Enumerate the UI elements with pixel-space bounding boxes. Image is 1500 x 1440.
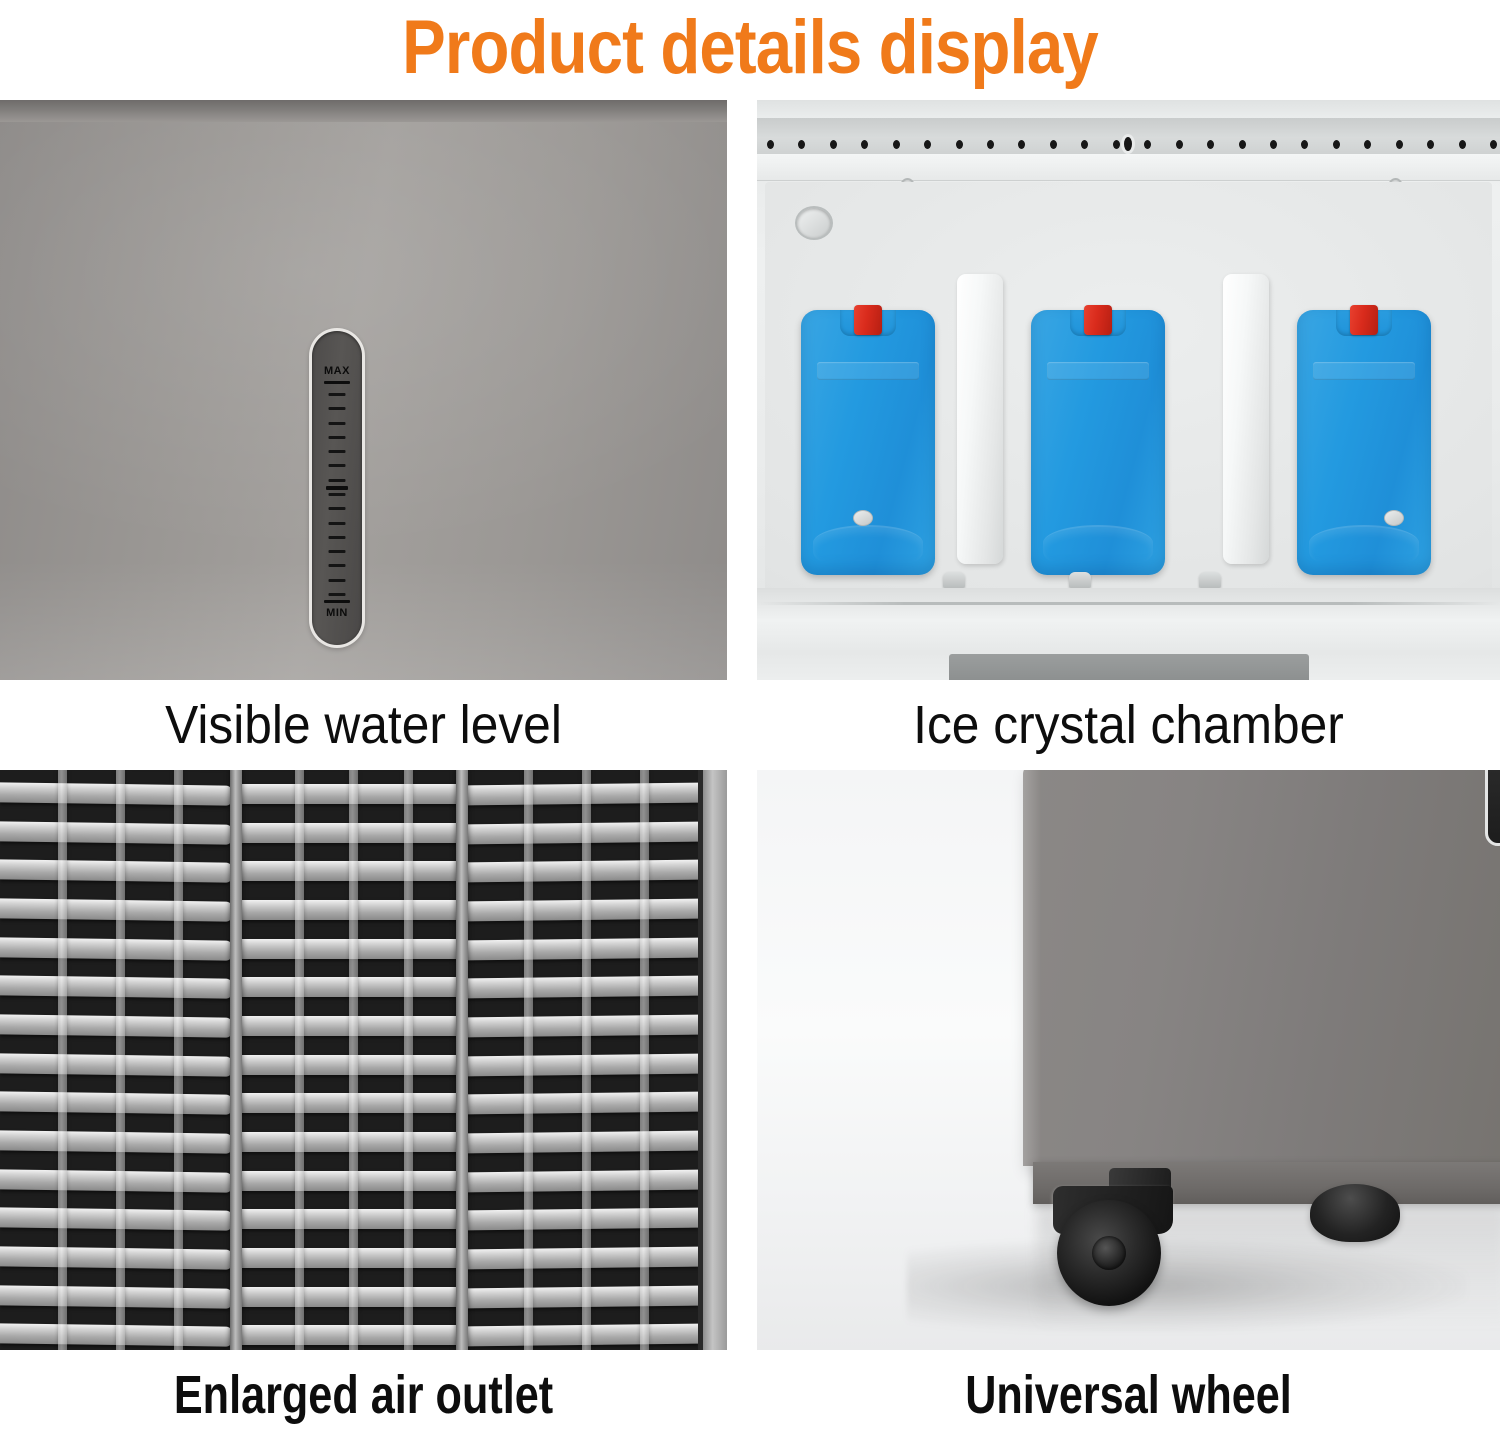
cabinet-body [1023,770,1500,1166]
chamber-interior [765,182,1492,592]
vent-hole [861,140,868,149]
floor-nub [1069,572,1091,588]
floor-nub [1199,572,1221,588]
floor-nub [943,572,965,588]
gauge-tick [329,407,346,410]
gauge-tick [329,422,346,425]
panel-visible-water-level: MAX MIN Visible water level [0,100,727,770]
gauge-tick [329,479,346,482]
gauge-major-tick-max [324,381,350,384]
vent-hole [1490,140,1497,149]
grille-right-frame [703,770,727,1350]
vent-hole [1333,140,1340,149]
gauge-tick [329,536,346,539]
vent-hole [1207,140,1214,149]
gauge-tick [329,522,346,525]
grille-rib [116,770,125,1350]
gauge-tick [329,507,346,510]
caption-enlarged-air-outlet: Enlarged air outlet [73,1350,655,1440]
gauge-tick [329,393,346,396]
page-title: Product details display [105,0,1395,100]
grille-column [240,770,458,1350]
ice-pack-emboss [817,362,919,380]
vent-hole [1113,140,1120,149]
ice-pack-emboss [1313,362,1415,380]
gauge-major-tick-min [324,600,350,603]
caption-visible-water-level: Visible water level [29,680,698,770]
gauge-max-label: MAX [312,365,362,377]
ice-pack-cap [1084,305,1112,335]
vent-hole [798,140,805,149]
vent-hole [1396,140,1403,149]
ice-pack-foot [813,525,923,561]
chamber-floor [757,588,1500,680]
ice-pack-cap [854,305,882,335]
vent-hole [924,140,931,149]
gauge-tick [329,579,346,582]
grille-rib [524,770,533,1350]
photo-ice-crystal-chamber [757,100,1500,680]
floor-shadow [907,1240,1467,1332]
gauge-tick [329,493,346,496]
ice-pack-emboss [1047,362,1149,380]
mount-boss [853,510,873,526]
vent-hole [1427,140,1434,149]
vent-hole [893,140,900,149]
gauge-body: MAX MIN [312,331,362,645]
vent-hole [830,140,837,149]
gauge-tick [329,564,346,567]
caption-universal-wheel: Universal wheel [831,1350,1425,1440]
vent-hole [1270,140,1277,149]
vent-hole [1050,140,1057,149]
vent-hole [1081,140,1088,149]
grille-rib [58,770,67,1350]
chamber-vent-holes [767,140,1490,149]
grille-rib [640,770,649,1350]
vent-hole [1239,140,1246,149]
ice-pack-cap [1350,305,1378,335]
ice-pack-foot [1043,525,1153,561]
grille-rib [404,770,413,1350]
panel-enlarged-air-outlet: Enlarged air outlet [0,770,727,1440]
chamber-dial [795,206,833,240]
photo-enlarged-air-outlet [0,770,727,1350]
grille-column [466,770,698,1350]
grille-rib [174,770,183,1350]
chamber-lower-rail [757,154,1500,181]
mount-boss [1384,510,1404,526]
vent-hole [956,140,963,149]
vent-hole [987,140,994,149]
grille-rib [295,770,304,1350]
panel-ice-crystal-chamber: Ice crystal chamber [757,100,1500,770]
gauge-tick-marks [312,393,362,595]
gauge-tick [329,550,346,553]
gauge-tick [329,436,346,439]
grille-post [230,770,242,1350]
chamber-handle-strip [949,654,1309,680]
ice-pack [801,310,935,575]
gauge-tick [329,593,346,596]
water-level-gauge: MAX MIN [309,328,365,648]
gauge-major-tick-mid [326,486,348,490]
vent-hole [1176,140,1183,149]
chamber-divider [957,274,1003,564]
vent-hole [1144,140,1151,149]
vent-hole [767,140,774,149]
rear-caster-wheel [1310,1184,1400,1242]
front-caster-wheel [1057,1200,1161,1306]
grille-rib [349,770,358,1350]
ice-pack [1031,310,1165,575]
vent-hole [1018,140,1025,149]
vent-hole [1301,140,1308,149]
product-detail-grid: MAX MIN Visible water level [0,100,1500,1434]
grille-rib [582,770,591,1350]
grille-post [456,770,468,1350]
ice-pack-foot [1309,525,1419,561]
vent-hole [1364,140,1371,149]
panel-universal-wheel: Universal wheel [757,770,1500,1440]
cabinet-vent-slot [1485,770,1500,846]
gauge-tick [329,450,346,453]
gauge-tick [329,464,346,467]
photo-visible-water-level: MAX MIN [0,100,727,680]
gauge-min-label: MIN [312,607,362,619]
caption-ice-crystal-chamber: Ice crystal chamber [787,680,1471,770]
cabinet-top-edge [0,100,727,122]
vent-hole [1459,140,1466,149]
photo-universal-wheel [757,770,1500,1350]
grille-column [0,770,232,1350]
ice-pack [1297,310,1431,575]
chamber-divider [1223,274,1269,564]
